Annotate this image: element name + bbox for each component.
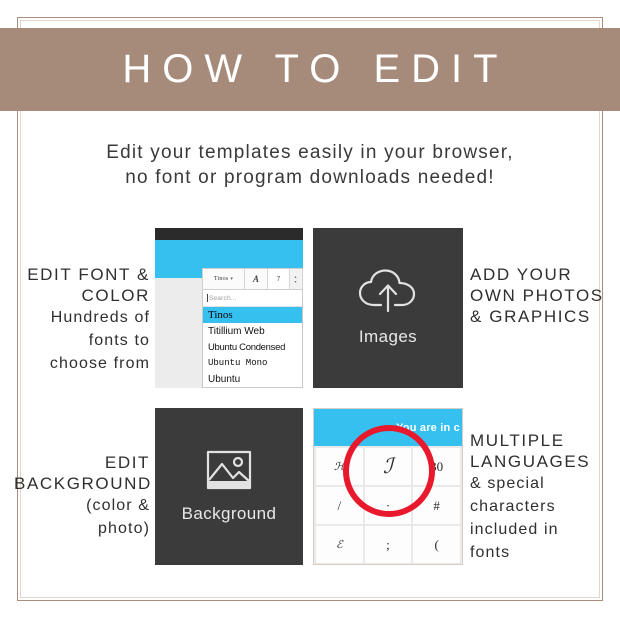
char-key[interactable]: ( <box>413 526 460 563</box>
caption-languages-heading: MULTIPLE LANGUAGES <box>470 430 612 472</box>
chevron-down-icon: ▾ <box>230 276 233 282</box>
font-list-item-ubuntu[interactable]: Ubuntu <box>203 371 302 387</box>
font-picker-screenshot: Tinos ▾ A 7 ▴ ▾ Search... Tinos Titilliu… <box>155 228 303 388</box>
font-family-select[interactable]: Tinos ▾ <box>203 269 245 289</box>
caption-multiple-languages: MULTIPLE LANGUAGES & special characters … <box>470 430 612 564</box>
red-circle-annotation <box>343 425 435 517</box>
caption-languages-sub-line-2: characters <box>470 495 612 518</box>
text-cursor <box>207 294 208 302</box>
caption-background-line-2: BACKGROUND <box>14 473 150 494</box>
caption-font-heading-line-2: COLOR <box>14 285 150 306</box>
stepper-down-icon[interactable]: ▾ <box>294 279 296 284</box>
caption-font-sub-line-3: choose from <box>14 352 150 375</box>
poster-canvas: HOW TO EDIT Edit your templates easily i… <box>0 0 620 620</box>
background-tile[interactable]: Background <box>155 408 303 565</box>
caption-languages-line-2: LANGUAGES <box>470 451 612 472</box>
caption-edit-background: EDIT BACKGROUND (color & photo) <box>14 452 150 540</box>
caption-font-sub-line-1: Hundreds of <box>14 306 150 329</box>
images-tile-content: Images <box>313 228 463 388</box>
image-picture-icon <box>206 450 252 490</box>
font-size-input[interactable]: 7 <box>268 269 290 289</box>
font-dropdown-menu: Search... Tinos Titillium Web Ubuntu Con… <box>202 290 303 388</box>
caption-languages-sub: & special characters included in fonts <box>470 472 612 564</box>
caption-background-sub-line-2: photo) <box>14 517 150 540</box>
font-search-input[interactable]: Search... <box>203 290 302 307</box>
font-list: Tinos Titillium Web Ubuntu Condensed Ubu… <box>203 307 302 387</box>
font-list-item-ubuntu-mono[interactable]: Ubuntu Mono <box>203 355 302 371</box>
char-key[interactable]: ; <box>365 526 412 563</box>
background-tile-label: Background <box>182 504 277 524</box>
caption-add-photos: ADD YOUR OWN PHOTOS & GRAPHICS <box>470 264 610 327</box>
caption-background-sub: (color & photo) <box>14 494 150 540</box>
caption-background-line-1: EDIT <box>14 452 150 473</box>
caption-font-sub-line-2: fonts to <box>14 329 150 352</box>
cloud-upload-icon <box>357 269 419 313</box>
images-upload-tile[interactable]: Images <box>313 228 463 388</box>
font-style-icon[interactable]: A <box>245 269 268 289</box>
char-key[interactable]: ℰ <box>316 526 363 563</box>
caption-languages-sub-line-4: fonts <box>470 541 612 564</box>
font-list-item-titillium-web[interactable]: Titillium Web <box>203 323 302 339</box>
font-toolbar: Tinos ▾ A 7 ▴ ▾ <box>202 268 303 290</box>
page-title: HOW TO EDIT <box>111 47 508 92</box>
font-search-placeholder: Search... <box>209 295 237 302</box>
font-family-value: Tinos <box>214 276 228 282</box>
font-list-item-tinos[interactable]: Tinos <box>203 307 302 323</box>
font-size-stepper[interactable]: ▴ ▾ <box>290 269 301 289</box>
subtitle-line-2: no font or program downloads needed! <box>30 165 590 190</box>
caption-photos-line-2: OWN PHOTOS <box>470 285 610 306</box>
caption-font-heading-line-1: EDIT FONT & <box>14 264 150 285</box>
subtitle-text: Edit your templates easily in your brows… <box>30 140 590 190</box>
font-list-item-ubuntu-condensed[interactable]: Ubuntu Condensed <box>203 339 302 355</box>
caption-background-sub-line-1: (color & <box>14 494 150 517</box>
images-tile-label: Images <box>359 327 417 347</box>
caption-languages-sub-line-1: & special <box>470 472 612 495</box>
caption-edit-font-color: EDIT FONT & COLOR Hundreds of fonts to c… <box>14 264 150 375</box>
caption-font-heading: EDIT FONT & COLOR <box>14 264 150 306</box>
caption-languages-sub-line-3: included in <box>470 518 612 541</box>
caption-photos-line-3: & GRAPHICS <box>470 306 610 327</box>
special-characters-screenshot: You are in c ℋ ℐ 30 / · # ℰ ; ( <box>313 408 463 565</box>
caption-photos-line-1: ADD YOUR <box>470 264 610 285</box>
caption-languages-line-1: MULTIPLE <box>470 430 612 451</box>
caption-font-sub: Hundreds of fonts to choose from <box>14 306 150 375</box>
header-band: HOW TO EDIT <box>0 28 620 111</box>
background-tile-content: Background <box>155 408 303 565</box>
subtitle-line-1: Edit your templates easily in your brows… <box>30 140 590 165</box>
caption-background-heading: EDIT BACKGROUND <box>14 452 150 494</box>
caption-photos-heading: ADD YOUR OWN PHOTOS & GRAPHICS <box>470 264 610 327</box>
editor-titlebar <box>155 228 303 240</box>
